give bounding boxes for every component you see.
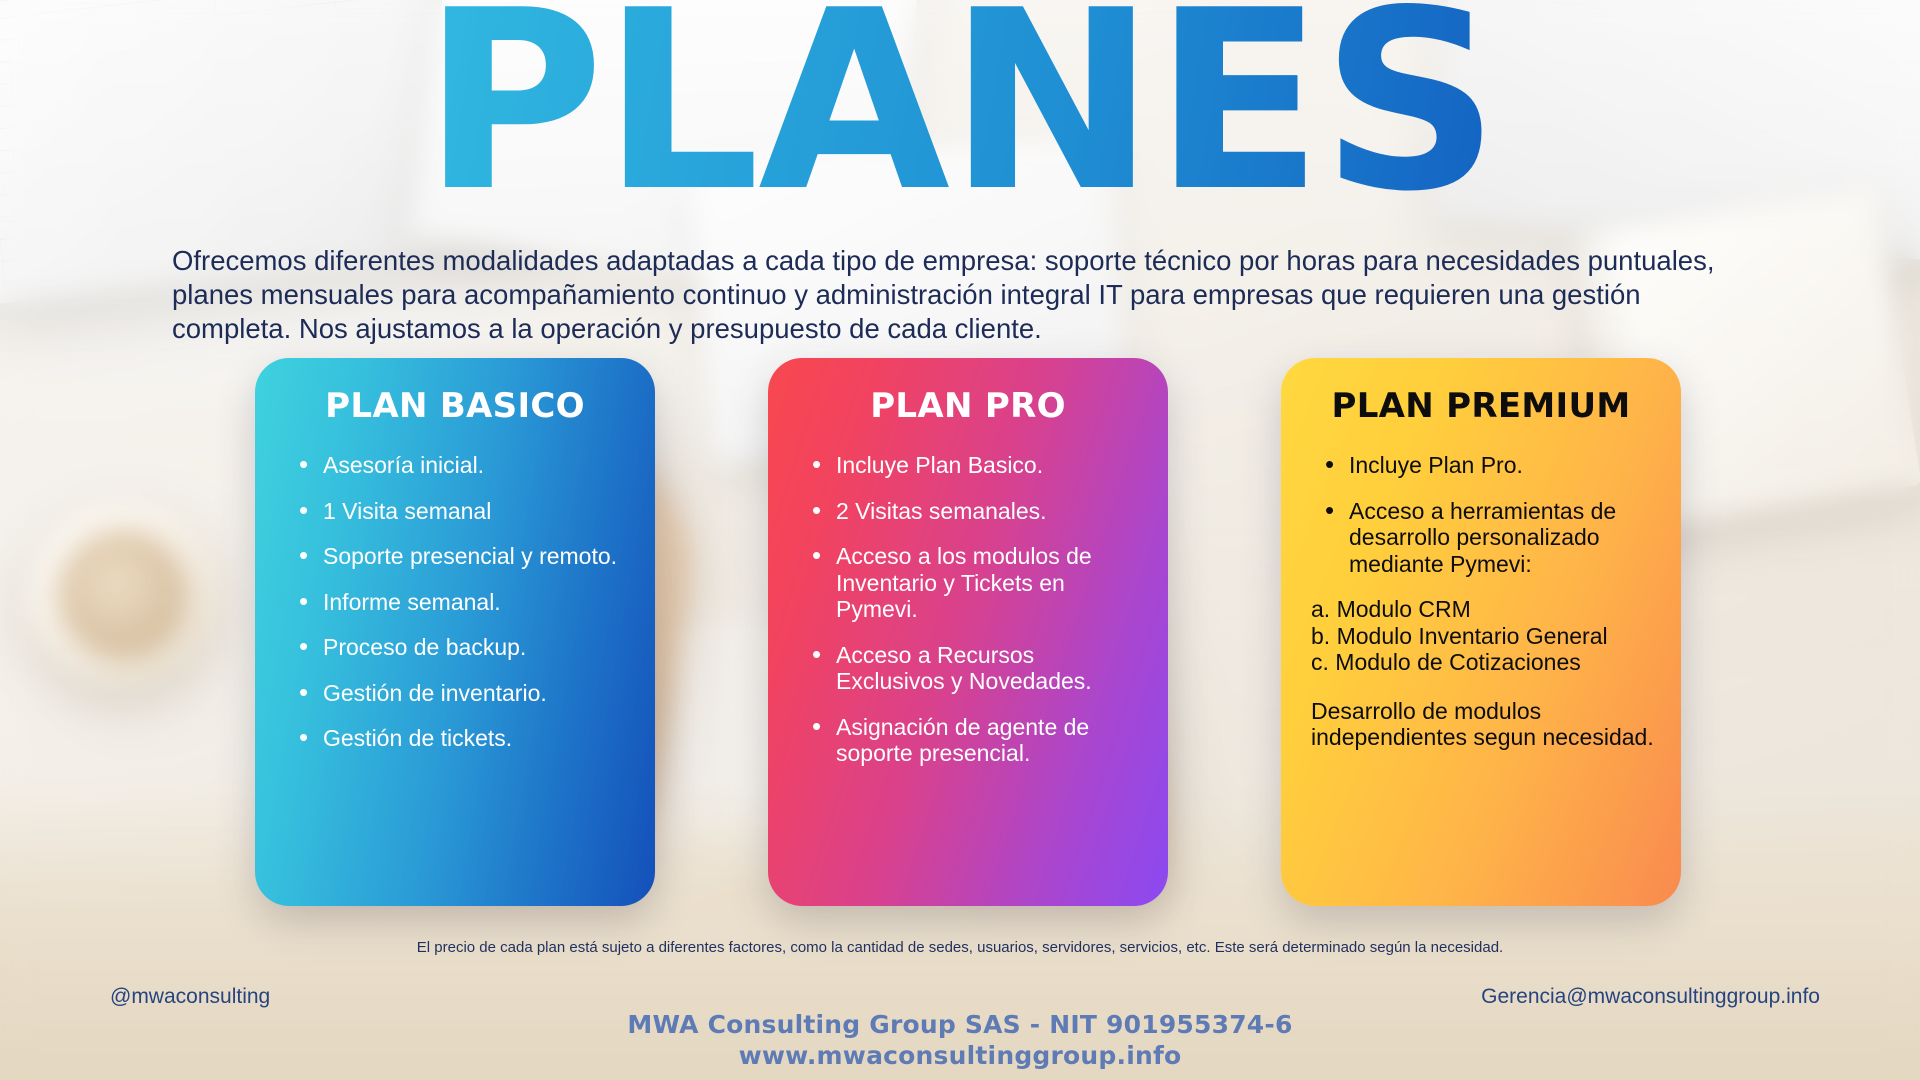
module-item: a. Modulo CRM	[1311, 596, 1655, 623]
plan-features-pro: Incluye Plan Basico. 2 Visitas semanales…	[794, 452, 1142, 767]
plan-title-pro: PLAN PRO	[794, 386, 1142, 426]
plan-card-premium[interactable]: PLAN PREMIUM Incluye Plan Pro. Acceso a …	[1281, 358, 1681, 906]
feature-item: Soporte presencial y remoto.	[297, 543, 625, 570]
feature-item: Incluye Plan Basico.	[810, 452, 1138, 479]
module-item: c. Modulo de Cotizaciones	[1311, 649, 1655, 676]
contact-email[interactable]: Gerencia@mwaconsultinggroup.info	[1481, 985, 1820, 1009]
company-website[interactable]: www.mwaconsultinggroup.info	[0, 1040, 1920, 1071]
plan-card-basico[interactable]: PLAN BASICO Asesoría inicial. 1 Visita s…	[255, 358, 655, 906]
brand-footer: MWA Consulting Group SAS - NIT 901955374…	[0, 1009, 1920, 1071]
feature-item: Acceso a Recursos Exclusivos y Novedades…	[810, 642, 1138, 695]
feature-item: 1 Visita semanal	[297, 498, 625, 525]
feature-item: 2 Visitas semanales.	[810, 498, 1138, 525]
feature-item: Proceso de backup.	[297, 634, 625, 661]
plan-title-basico: PLAN BASICO	[281, 386, 629, 426]
plan-features-basico: Asesoría inicial. 1 Visita semanal Sopor…	[281, 452, 629, 752]
feature-item: Gestión de inventario.	[297, 680, 625, 707]
feature-item: Acceso a herramientas de desarrollo pers…	[1323, 498, 1651, 578]
plan-module-sublist: a. Modulo CRM b. Modulo Inventario Gener…	[1311, 596, 1655, 676]
plans-row: PLAN BASICO Asesoría inicial. 1 Visita s…	[0, 358, 1920, 906]
social-handle[interactable]: @mwaconsulting	[110, 985, 270, 1009]
module-item: b. Modulo Inventario General	[1311, 623, 1655, 650]
plan-card-pro[interactable]: PLAN PRO Incluye Plan Basico. 2 Visitas …	[768, 358, 1168, 906]
feature-item: Asesoría inicial.	[297, 452, 625, 479]
feature-item: Acceso a los modulos de Inventario y Tic…	[810, 543, 1138, 623]
feature-item: Asignación de agente de soporte presenci…	[810, 714, 1138, 767]
price-disclaimer: El precio de cada plan está sujeto a dif…	[0, 938, 1920, 958]
page-title: PLANES	[0, 0, 1920, 226]
company-name: MWA Consulting Group SAS - NIT 901955374…	[0, 1009, 1920, 1040]
plan-title-premium: PLAN PREMIUM	[1307, 386, 1655, 426]
poster-page: PLANES Ofrecemos diferentes modalidades …	[0, 0, 1920, 1080]
plan-closing-note: Desarrollo de modulos independientes seg…	[1311, 698, 1655, 751]
plan-features-premium: Incluye Plan Pro. Acceso a herramientas …	[1307, 452, 1655, 577]
feature-item: Informe semanal.	[297, 589, 625, 616]
feature-item: Incluye Plan Pro.	[1323, 452, 1651, 479]
intro-paragraph: Ofrecemos diferentes modalidades adaptad…	[172, 244, 1762, 346]
feature-item: Gestión de tickets.	[297, 725, 625, 752]
